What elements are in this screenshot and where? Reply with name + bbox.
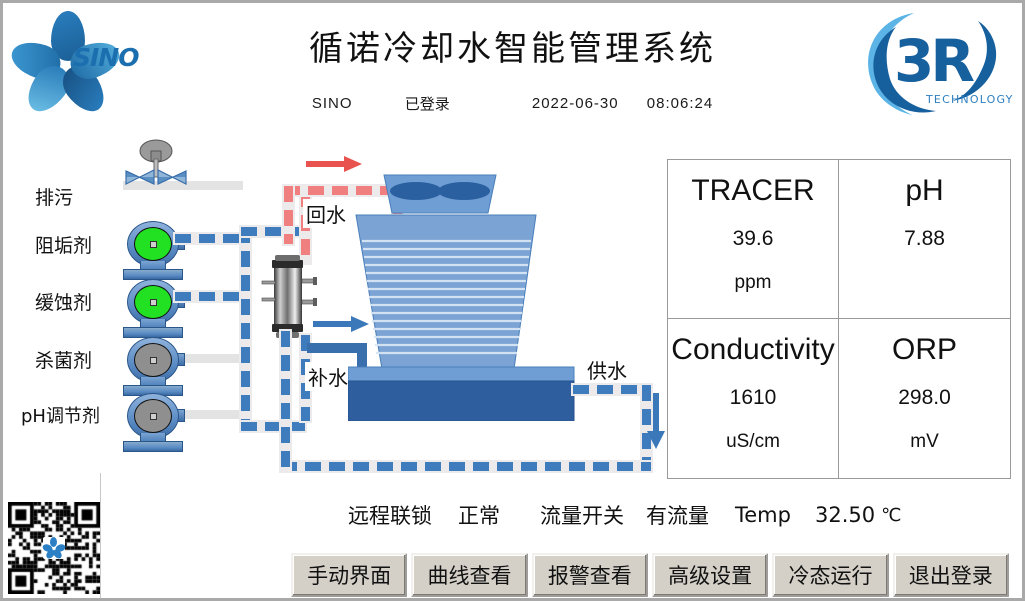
temperature-label: Temp: [735, 503, 791, 527]
3r-technology-logo: 3R TECHNOLOGY: [856, 5, 1016, 123]
pump-hub: [150, 299, 157, 306]
trend-curve-button[interactable]: 曲线查看: [411, 553, 527, 597]
left-divider: [100, 473, 101, 601]
3r-logo-subtext: TECHNOLOGY: [926, 93, 1014, 106]
alarm-view-button[interactable]: 报警查看: [532, 553, 648, 597]
dosing-line-corrosion-inhibitor: [175, 292, 249, 301]
system-date: 2022-06-30: [532, 95, 619, 112]
3r-logo-text: 3R: [894, 27, 971, 95]
measurement-value: 39.6: [733, 227, 774, 251]
measurement-label: TRACER: [691, 174, 814, 208]
pump-hub: [150, 357, 157, 364]
supply-left-pipe: [281, 331, 290, 471]
label-ph-adjuster: pH调节剂: [21, 402, 100, 428]
blowdown-valve[interactable]: [121, 139, 191, 201]
label-blowdown: 排污: [35, 183, 73, 210]
pump-status-indicator: [134, 285, 172, 319]
flow-switch-label: 流量开关: [540, 500, 624, 530]
dosing-line-antiscalant: [175, 234, 249, 243]
valve-icon: [121, 139, 191, 201]
temperature-value: 32.50: [815, 503, 875, 527]
riser-bottom-pipe: [241, 422, 305, 431]
pump-corrosion-inhibitor[interactable]: [121, 279, 183, 341]
pump-hub: [150, 413, 157, 420]
system-time: 08:06:24: [647, 95, 713, 112]
pump-status-indicator: [134, 399, 172, 433]
header: SINO 循诺冷却水智能管理系统 SINO 已登录 2022-06-30 08:…: [3, 3, 1022, 127]
interlock-value: 正常: [458, 500, 500, 530]
measurement-orp: ORP 298.0 mV: [839, 319, 1010, 478]
supply-bottom-pipe: [281, 462, 651, 471]
interlock-label: 远程联锁: [348, 500, 432, 530]
measurement-unit: ppm: [735, 272, 772, 294]
measurement-unit: uS/cm: [726, 431, 780, 453]
hmi-screen: SINO 循诺冷却水智能管理系统 SINO 已登录 2022-06-30 08:…: [0, 0, 1025, 601]
label-makeup-water: 补水: [305, 362, 351, 391]
pump-ph-adjuster[interactable]: [121, 393, 183, 455]
qr-code[interactable]: [8, 502, 100, 594]
logout-button[interactable]: 退出登录: [893, 553, 1009, 597]
cooling-tower-icon: [348, 171, 588, 421]
login-status: 已登录: [405, 93, 450, 114]
measurement-tracer: TRACER 39.6 ppm: [668, 160, 839, 319]
cooling-tower: [348, 171, 588, 421]
pump-biocide[interactable]: [121, 337, 183, 399]
temperature-unit: ℃: [881, 505, 901, 526]
manual-interface-button[interactable]: 手动界面: [291, 553, 407, 597]
measurement-unit: mV: [910, 431, 939, 453]
measurement-label: pH: [905, 174, 943, 208]
label-biocide: 杀菌剂: [35, 346, 92, 373]
pump-hub: [150, 241, 157, 248]
pump-status-indicator: [134, 227, 172, 261]
return-left-pipe: [284, 186, 293, 244]
label-antiscalant: 阻垢剂: [35, 231, 92, 258]
riser-pipe: [241, 227, 250, 431]
measurement-value: 1610: [730, 386, 777, 410]
supply-flow-arrow-icon: [646, 393, 666, 449]
riser-top-pipe: [241, 227, 305, 236]
advanced-settings-button[interactable]: 高级设置: [652, 553, 768, 597]
label-supply-water: 供水: [584, 355, 630, 384]
pump-base: [123, 441, 183, 452]
pump-status-indicator: [134, 343, 172, 377]
current-user: SINO: [312, 95, 353, 112]
measurement-panel: TRACER 39.6 ppm pH 7.88 Conductivity 161…: [667, 159, 1011, 479]
measurement-value: 298.0: [898, 386, 951, 410]
flow-switch-value: 有流量: [646, 500, 709, 530]
cold-start-button[interactable]: 冷态运行: [772, 553, 888, 597]
label-return-water: 回水: [303, 199, 349, 228]
button-bar: 手动界面 曲线查看 报警查看 高级设置 冷态运行 退出登录: [291, 553, 1009, 597]
label-corrosion-inhibitor: 缓蚀剂: [35, 288, 92, 315]
measurement-value: 7.88: [904, 227, 945, 251]
qr-center-logo: [43, 537, 65, 559]
status-row: 远程联锁 正常 流量开关 有流量 Temp 32.50 ℃: [348, 499, 1008, 531]
measurement-label: Conductivity: [671, 333, 834, 367]
measurement-ph: pH 7.88: [839, 160, 1010, 319]
measurement-label: ORP: [892, 333, 957, 367]
pump-antiscalant[interactable]: [121, 221, 183, 283]
measurement-conductivity: Conductivity 1610 uS/cm: [668, 319, 839, 478]
